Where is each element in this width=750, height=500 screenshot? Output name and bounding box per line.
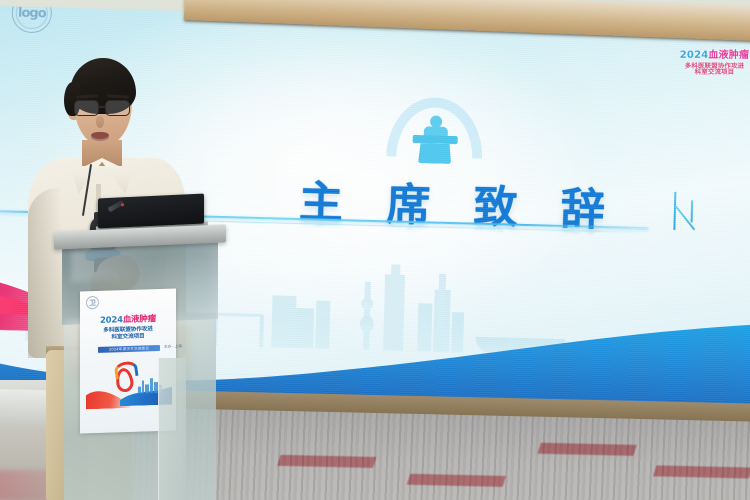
- podium-sign-badge-icon: 卫: [86, 296, 99, 309]
- eyeglasses-icon: [72, 100, 134, 117]
- shirt-shadow: [28, 188, 62, 358]
- podium-sign-bar-text: 2024年度学术交流会议: [98, 345, 160, 353]
- conference-logo-title: 2024血液肿瘤: [679, 51, 748, 62]
- thinkpad-logo-icon: [108, 200, 125, 212]
- lens-left: [74, 100, 99, 116]
- podium-sign-bar: 2024年度学术交流会议: [98, 345, 160, 353]
- screenshot-stage: logo 2024血液肿瘤 多科医联盟协作攻进 科室交流项目 主 席 致 辞 主…: [0, 0, 750, 500]
- podium-sign-title: 2024血液肿瘤: [84, 315, 172, 326]
- podium-sign-highlight: 血液肿瘤: [123, 314, 156, 325]
- conference-logo-line3: 科室交流项目: [679, 69, 748, 76]
- bracket-decoration-short: [691, 200, 694, 222]
- conference-logo-year: 2024: [679, 50, 708, 61]
- speaker-podium: 卫 2024血液肿瘤 多科医联盟协作攻进 科室交流项目 2024年度学术交流会议…: [58, 228, 226, 500]
- conference-logo: 2024血液肿瘤 多科医联盟协作攻进 科室交流项目: [679, 51, 748, 76]
- glass-divider-panel: [158, 358, 186, 500]
- bracket-decoration-vertical: [673, 192, 676, 230]
- lens-right: [105, 100, 130, 116]
- thinkpad-laptop: [98, 194, 204, 229]
- icon-stand: [418, 143, 452, 164]
- screen-watermark-logo: logo: [11, 6, 52, 34]
- icon-desk: [413, 135, 458, 144]
- conference-logo-highlight: 血液肿瘤: [708, 50, 749, 61]
- speaker-mouth: [91, 132, 109, 141]
- glasses-bridge: [99, 106, 106, 108]
- speaker-nose: [96, 116, 104, 128]
- podium-sign-year: 2024: [100, 315, 123, 326]
- podium-sign-meta: 主办 · 上海: [164, 344, 182, 350]
- speaker-at-podium-icon: [386, 90, 484, 164]
- podium-sign-subtitle-2: 科室交流项目: [84, 333, 172, 342]
- thinkpad-logo-dot: [121, 203, 124, 206]
- blood-drop-icon: [114, 367, 134, 394]
